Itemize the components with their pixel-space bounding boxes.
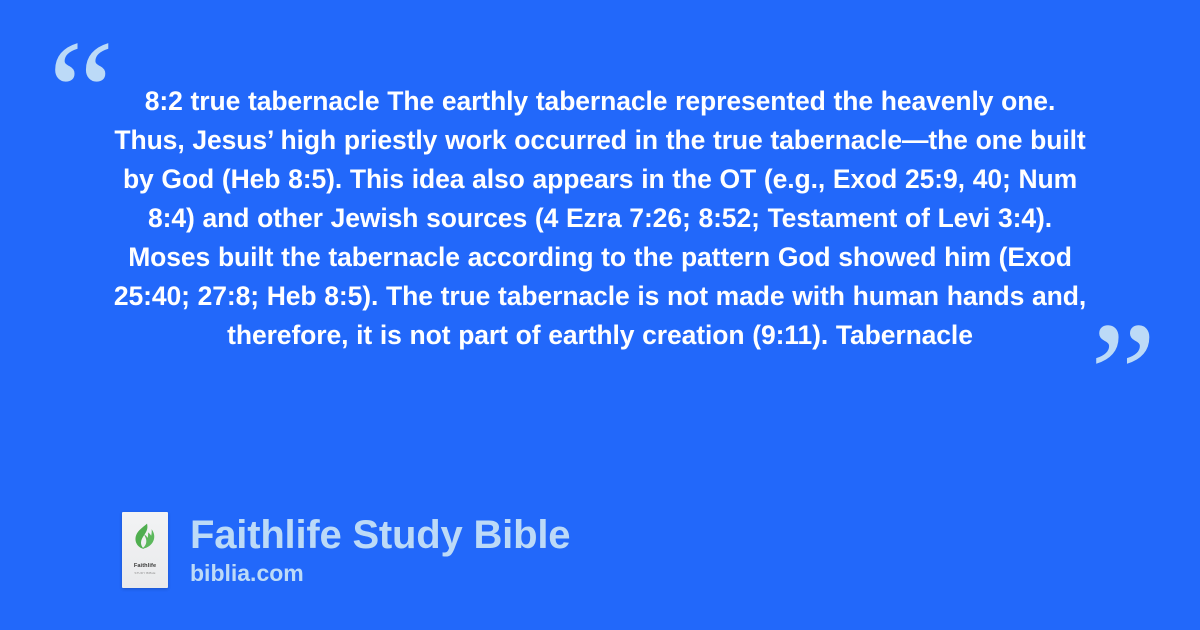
book-cover-thumbnail: Faithlife STUDY BIBLE xyxy=(122,512,168,588)
quote-card: “ 8:2 true tabernacle The earthly tabern… xyxy=(0,0,1200,630)
footer-branding: Faithlife STUDY BIBLE Faithlife Study Bi… xyxy=(122,512,570,588)
brand-text-block: Faithlife Study Bible biblia.com xyxy=(190,514,570,586)
cover-subtitle: STUDY BIBLE xyxy=(134,572,155,575)
quote-text: 8:2 true tabernacle The earthly tabernac… xyxy=(110,82,1090,355)
cover-title: Faithlife xyxy=(134,564,156,570)
brand-url[interactable]: biblia.com xyxy=(190,561,570,586)
brand-title: Faithlife Study Bible xyxy=(190,514,570,556)
opening-quote-icon: “ xyxy=(48,18,116,168)
closing-quote-icon: ” xyxy=(1090,300,1158,450)
faithlife-leaf-icon xyxy=(134,523,157,550)
